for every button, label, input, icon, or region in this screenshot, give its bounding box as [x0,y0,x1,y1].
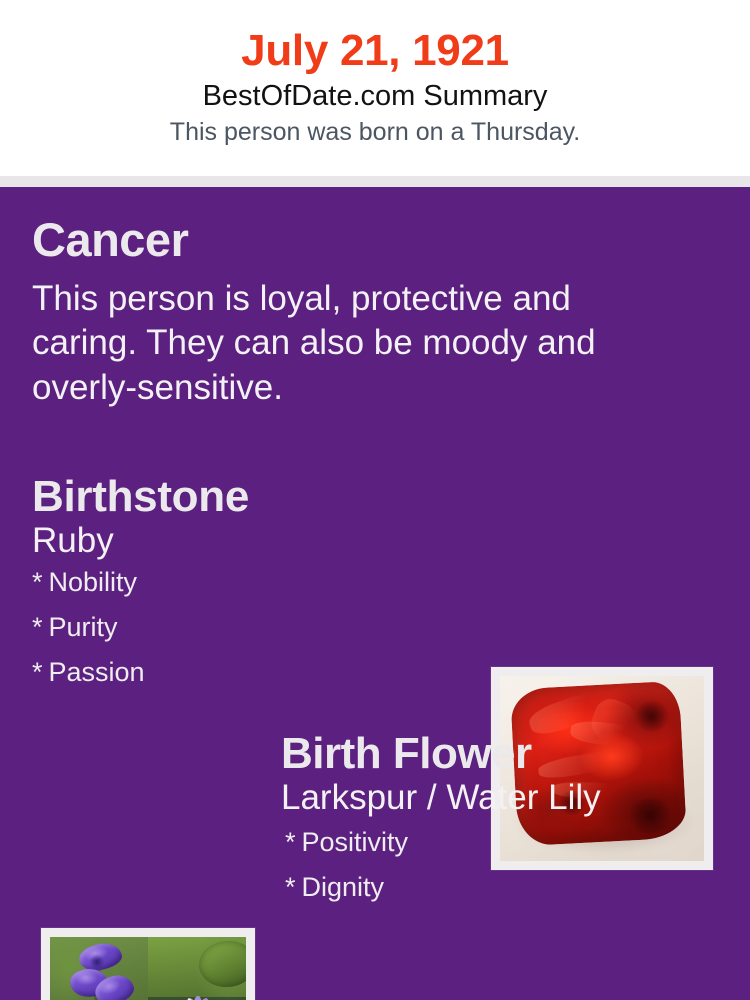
birthstone-heading: Birthstone [32,475,462,520]
birth-flower-heading: Birth Flower [281,732,731,777]
list-item: *Nobility [32,569,462,596]
list-item: *Passion [32,659,462,686]
birthstone-name: Ruby [32,522,462,561]
water-lily-photo-half [148,937,246,1000]
birthstone-trait-label: Purity [49,612,118,642]
birth-flower-name: Larkspur / Water Lily [281,779,731,818]
water-lily-bloom [165,976,232,1000]
larkspur-bloom-shadow [89,955,105,969]
birth-flower-trait-label: Dignity [302,872,385,902]
page-header: July 21, 1921 BestOfDate.com Summary Thi… [0,0,750,176]
list-item: *Positivity [285,829,731,856]
summary-page: July 21, 1921 BestOfDate.com Summary Thi… [0,0,750,1000]
birthstone-trait-label: Passion [49,657,145,687]
zodiac-description: This person is loyal, protective and car… [32,277,642,410]
birth-flower-trait-label: Positivity [302,827,409,857]
asterisk-bullet-icon: * [32,612,43,642]
birthstone-section: Birthstone Ruby *Nobility *Purity *Passi… [32,475,462,704]
birth-flower-image: larkspur-and-water-lily-photo [50,937,246,1000]
asterisk-bullet-icon: * [32,567,43,597]
page-title-date: July 21, 1921 [0,26,750,75]
details-panel: Cancer This person is loyal, protective … [0,187,750,1000]
asterisk-bullet-icon: * [32,657,43,687]
birth-flower-image-frame: larkspur-and-water-lily-photo [41,928,255,1000]
list-item: *Purity [32,614,462,641]
birth-flower-section: Birth Flower Larkspur / Water Lily *Posi… [281,732,731,919]
list-item: *Dignity [285,874,731,901]
zodiac-section: Cancer This person is loyal, protective … [32,216,672,410]
ruby-inclusion [633,700,672,733]
asterisk-bullet-icon: * [285,872,296,902]
site-summary-label: BestOfDate.com Summary [0,80,750,113]
larkspur-photo-half [50,937,148,1000]
weekday-statement: This person was born on a Thursday. [0,118,750,147]
birthstone-trait-label: Nobility [49,567,138,597]
header-divider [0,176,750,187]
zodiac-sign-name: Cancer [32,216,672,263]
birth-flower-trait-list: *Positivity *Dignity [281,829,731,901]
asterisk-bullet-icon: * [285,827,296,857]
birthstone-trait-list: *Nobility *Purity *Passion [32,569,462,686]
